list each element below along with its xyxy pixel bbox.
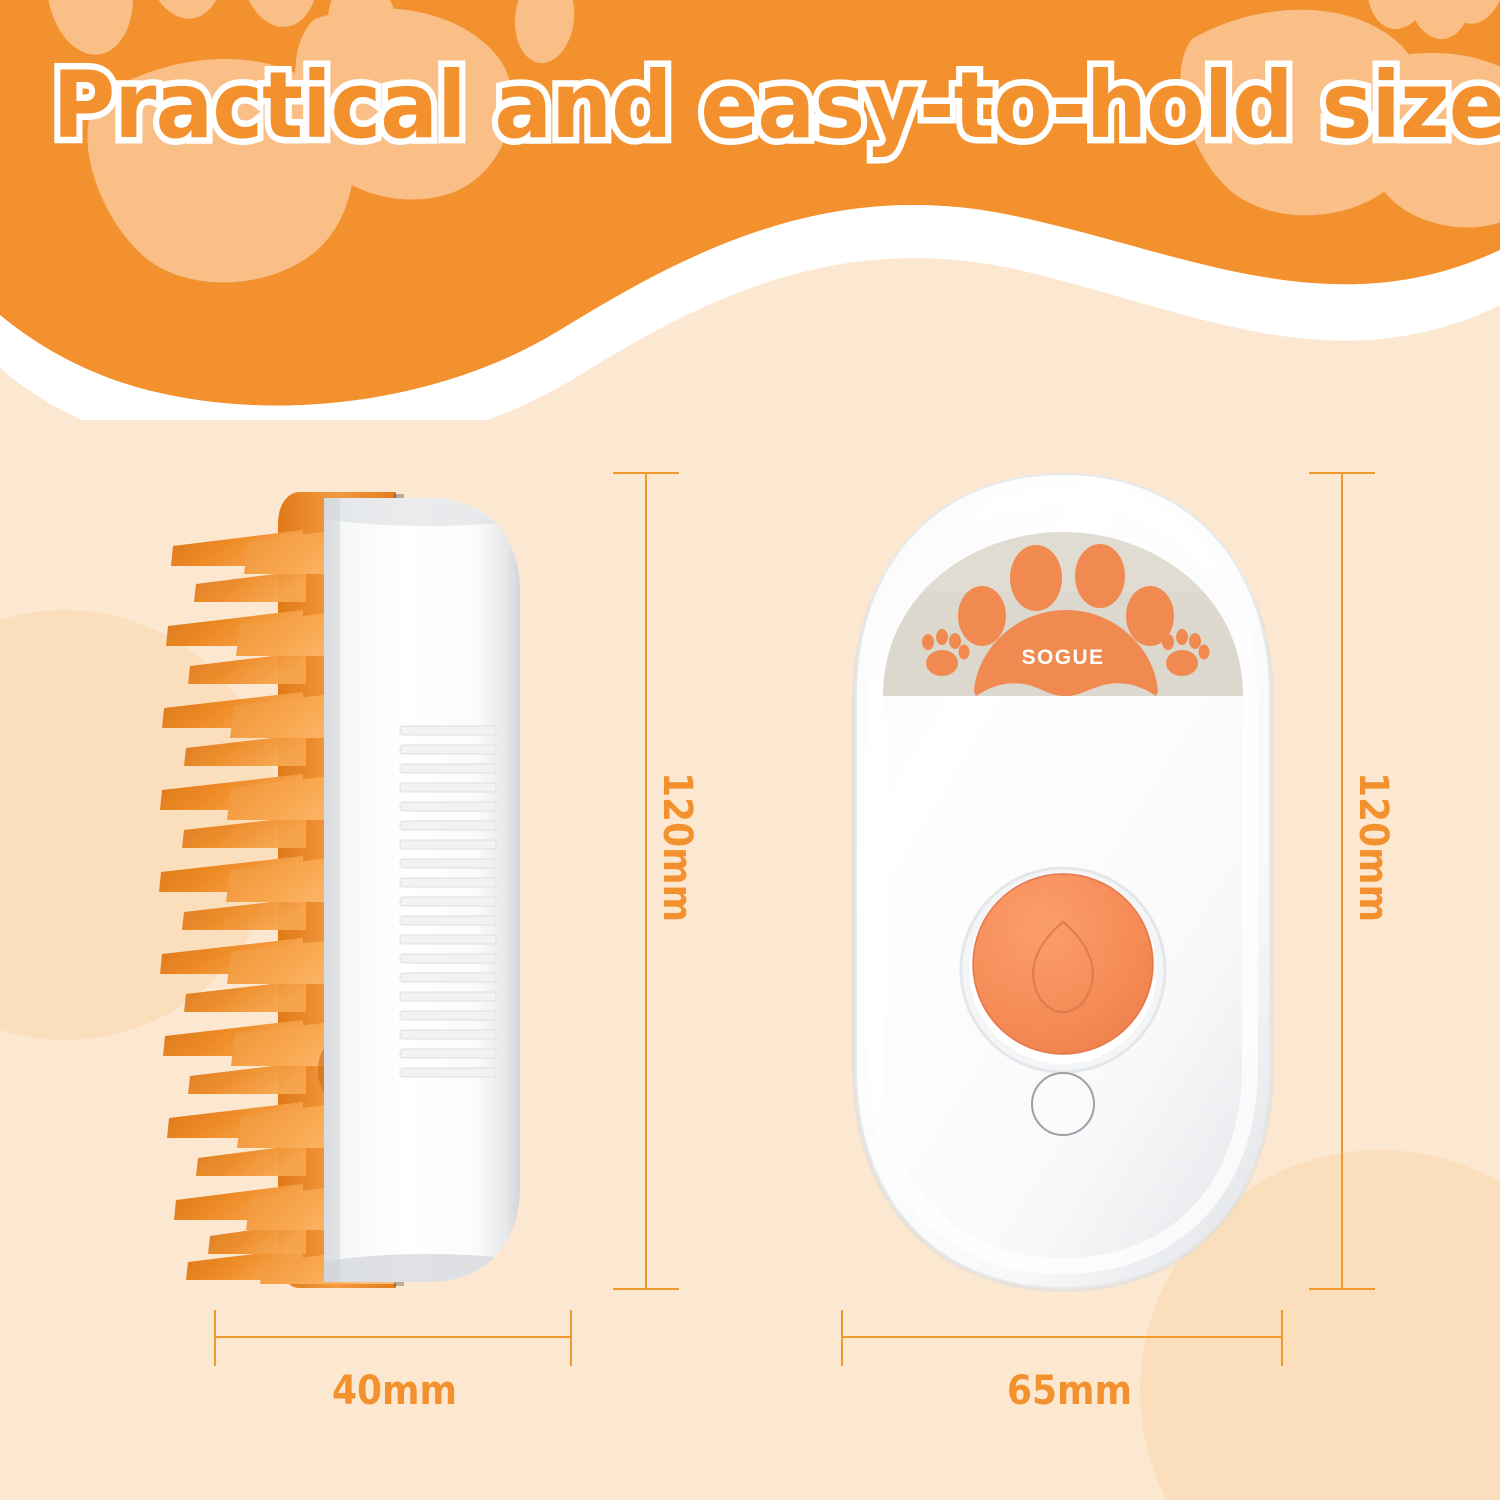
- front-height-tick-top: [1309, 472, 1375, 474]
- front-height-line: [1341, 472, 1343, 1290]
- header-banner: Practical and easy-to-hold size: [0, 0, 1500, 420]
- power-button[interactable]: [973, 874, 1153, 1054]
- side-width-tick-left: [214, 1310, 216, 1366]
- front-width-line: [841, 1336, 1283, 1338]
- infographic-stage: Practical and easy-to-hold size: [0, 0, 1500, 1500]
- brush-white-body: [324, 498, 520, 1282]
- front-width-tick-left: [841, 1310, 843, 1366]
- front-width-tick-right: [1281, 1310, 1283, 1366]
- front-width-label: 65mm: [1007, 1368, 1132, 1414]
- front-height-label: 120mm: [1350, 772, 1396, 922]
- side-height-tick-top: [613, 472, 679, 474]
- led-indicator[interactable]: [1032, 1073, 1094, 1135]
- side-height-tick-bottom: [613, 1288, 679, 1290]
- side-width-tick-right: [570, 1310, 572, 1366]
- side-height-label: 120mm: [654, 772, 700, 922]
- product-side-view: [128, 470, 588, 1310]
- side-width-label: 40mm: [332, 1368, 457, 1414]
- side-width-line: [214, 1336, 572, 1338]
- front-height-tick-bottom: [1309, 1288, 1375, 1290]
- product-front-view: SOGUE: [838, 470, 1288, 1300]
- page-title: Practical and easy-to-hold size: [53, 58, 1448, 155]
- side-height-line: [645, 472, 647, 1290]
